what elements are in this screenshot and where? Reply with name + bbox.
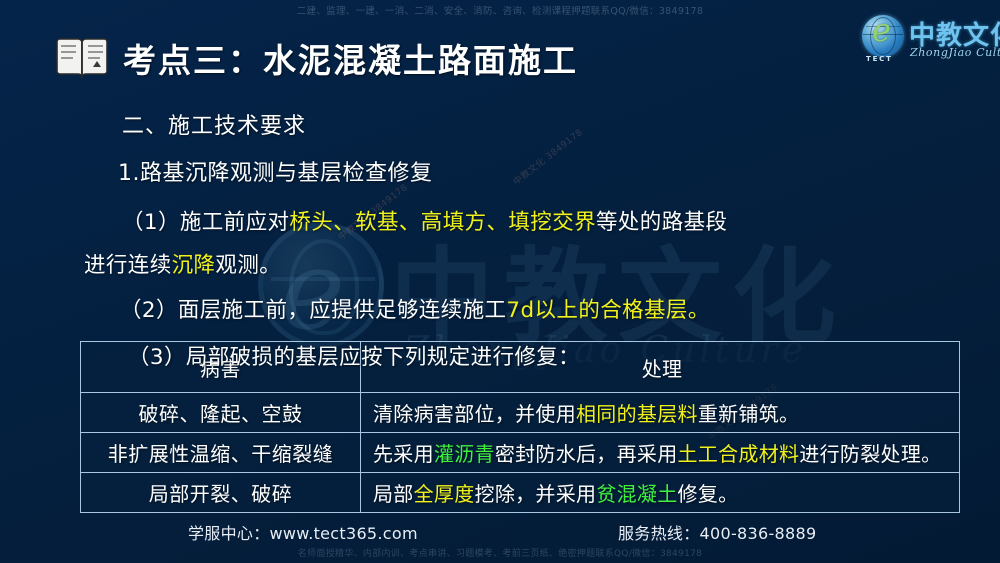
para1b-highlight: 沉降 xyxy=(172,253,216,278)
watermark-diagonal-text: 中教文化 3849178 xyxy=(510,125,585,188)
logo-en-text: ZhongJiao Culture xyxy=(910,46,1000,59)
para1-pre: （1）施工前应对 xyxy=(122,210,289,235)
treat-highlight-yellow: 相同的基层料 xyxy=(576,402,698,426)
paragraph-1-line-1: （1）施工前应对桥头、软基、高填方、填挖交界等处的路基段 xyxy=(122,205,727,236)
logo-tect-text: TECT xyxy=(866,55,893,63)
item-1-heading: 1.路基沉降观测与基层检查修复 xyxy=(118,155,433,187)
paragraph-1-line-2: 进行连续沉降观测。 xyxy=(84,248,281,279)
treat-highlight-green: 灌沥青 xyxy=(434,442,495,466)
footer-subtext: 名师面授精华、内部内训、考点串讲、习题模考、考前三页纸、绝密押题联系QQ/微信：… xyxy=(0,546,1000,559)
brand-logo: e TECT 中教文化 ZhongJiao Culture xyxy=(862,14,990,64)
para2-highlight: 7d以上的合格基层。 xyxy=(506,298,709,323)
watermark-globe-icon xyxy=(258,222,384,348)
table-cell-treatment: 先采用灌沥青密封防水后，再采用土工合成材料进行防裂处理。 xyxy=(361,433,960,473)
table-cell-treatment: 清除病害部位，并使用相同的基层料重新铺筑。 xyxy=(361,393,960,433)
para1-post: 等处的路基段 xyxy=(596,210,727,235)
paragraph-2: （2）面层施工前，应提供足够连续施工7d以上的合格基层。 xyxy=(120,293,710,324)
para1b-post: 观测。 xyxy=(215,253,281,278)
para1-highlight: 桥头、软基、高填方、填挖交界 xyxy=(289,210,596,235)
treat-mid: 密封防水后，再采用 xyxy=(495,442,678,466)
table-row: 局部开裂、破碎 局部全厚度挖除，并采用贫混凝土修复。 xyxy=(81,473,960,513)
top-banner-text: 二建、监理、一建、一消、二消、安全、消防、咨询、检测课程押题联系QQ/微信：38… xyxy=(0,3,1000,17)
page-title: 考点三：水泥混凝土路面施工 xyxy=(55,34,578,82)
table-cell-disease: 非扩展性温缩、干缩裂缝 xyxy=(81,433,361,473)
treat-post: 修复。 xyxy=(678,482,739,506)
table-cell-treatment: 局部全厚度挖除，并采用贫混凝土修复。 xyxy=(361,473,960,513)
treat-post: 进行防裂处理。 xyxy=(799,442,941,466)
para1b-pre: 进行连续 xyxy=(84,253,172,278)
slide-canvas: e 中教文化 ZhongJiao Culture 中教文化 3849178 中教… xyxy=(0,0,1000,563)
section-heading: 二、施工技术要求 xyxy=(122,108,306,140)
treat-pre: 先采用 xyxy=(373,442,434,466)
treat-mid: 挖除，并采用 xyxy=(475,482,597,506)
treat-highlight-yellow: 全厚度 xyxy=(414,482,475,506)
treat-pre: 局部 xyxy=(373,482,414,506)
open-book-icon xyxy=(55,36,109,80)
footer-service-center: 学服中心：www.tect365.com xyxy=(188,520,418,544)
page-title-text: 考点三：水泥混凝土路面施工 xyxy=(123,34,578,82)
globe-icon: e xyxy=(862,15,904,57)
table-row: 破碎、隆起、空鼓 清除病害部位，并使用相同的基层料重新铺筑。 xyxy=(81,393,960,433)
treat-pre: 清除病害部位，并使用 xyxy=(373,402,576,426)
paragraph-3: （3）局部破损的基层应按下列规定进行修复： xyxy=(128,340,580,371)
treat-highlight-green: 贫混凝土 xyxy=(596,482,677,506)
table-cell-disease: 局部开裂、破碎 xyxy=(81,473,361,513)
table-row: 非扩展性温缩、干缩裂缝 先采用灌沥青密封防水后，再采用土工合成材料进行防裂处理。 xyxy=(81,433,960,473)
footer-hotline: 服务热线：400-836-8889 xyxy=(618,520,816,544)
watermark-e-letter: e xyxy=(280,226,341,354)
para2-pre: （2）面层施工前，应提供足够连续施工 xyxy=(120,298,506,323)
treat-highlight-yellow: 土工合成材料 xyxy=(678,442,800,466)
table-cell-disease: 破碎、隆起、空鼓 xyxy=(81,393,361,433)
treat-mid: 重新铺筑。 xyxy=(698,402,800,426)
